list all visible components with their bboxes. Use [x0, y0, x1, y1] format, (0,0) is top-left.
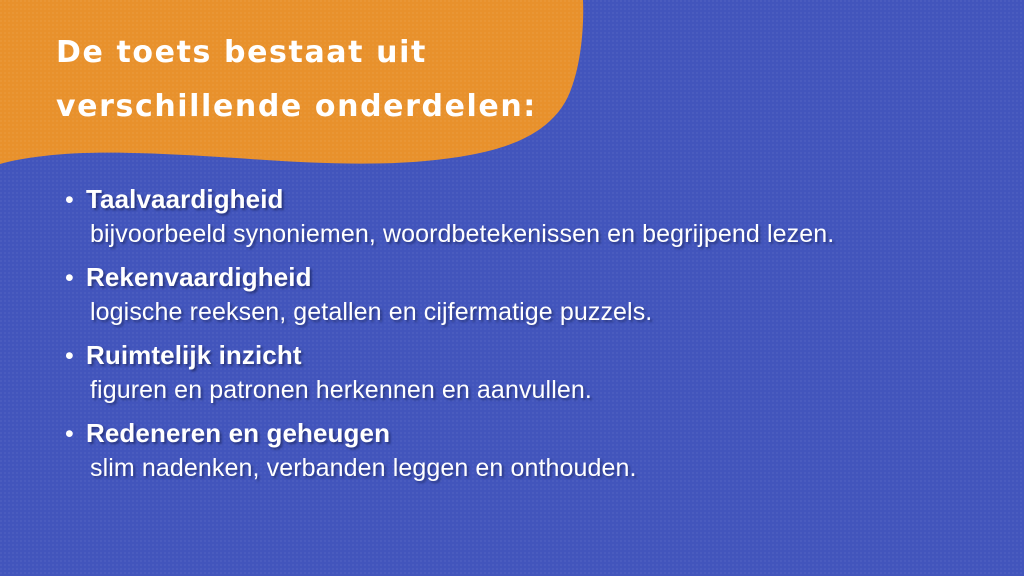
- bullet-icon: •: [60, 185, 86, 215]
- topic-heading-row: • Ruimtelijk inzicht: [60, 339, 1010, 371]
- topic-heading-row: • Taalvaardigheid: [60, 183, 1010, 215]
- topic-description: logische reeksen, getallen en cijfermati…: [60, 296, 1010, 328]
- slide-canvas: De toets bestaat uit verschillende onder…: [0, 0, 1024, 576]
- slide-title: De toets bestaat uit verschillende onder…: [56, 26, 616, 134]
- topic-title: Ruimtelijk inzicht: [86, 339, 302, 371]
- list-item: • Rekenvaardigheid logische reeksen, get…: [60, 261, 1010, 328]
- bullet-icon: •: [60, 341, 86, 371]
- topic-heading-row: • Rekenvaardigheid: [60, 261, 1010, 293]
- topic-description: figuren en patronen herkennen en aanvull…: [60, 374, 1010, 406]
- title-line-2: verschillende onderdelen:: [56, 80, 616, 134]
- title-line-1: De toets bestaat uit: [56, 26, 616, 80]
- list-item: • Redeneren en geheugen slim nadenken, v…: [60, 417, 1010, 484]
- topic-list: • Taalvaardigheid bijvoorbeeld synonieme…: [60, 183, 1010, 495]
- list-item: • Ruimtelijk inzicht figuren en patronen…: [60, 339, 1010, 406]
- topic-title: Redeneren en geheugen: [86, 417, 390, 449]
- list-item: • Taalvaardigheid bijvoorbeeld synonieme…: [60, 183, 1010, 250]
- topic-description: bijvoorbeeld synoniemen, woordbetekeniss…: [60, 218, 1010, 250]
- bullet-icon: •: [60, 263, 86, 293]
- topic-heading-row: • Redeneren en geheugen: [60, 417, 1010, 449]
- topic-title: Taalvaardigheid: [86, 183, 284, 215]
- topic-title: Rekenvaardigheid: [86, 261, 312, 293]
- topic-description: slim nadenken, verbanden leggen en ontho…: [60, 452, 1010, 484]
- bullet-icon: •: [60, 419, 86, 449]
